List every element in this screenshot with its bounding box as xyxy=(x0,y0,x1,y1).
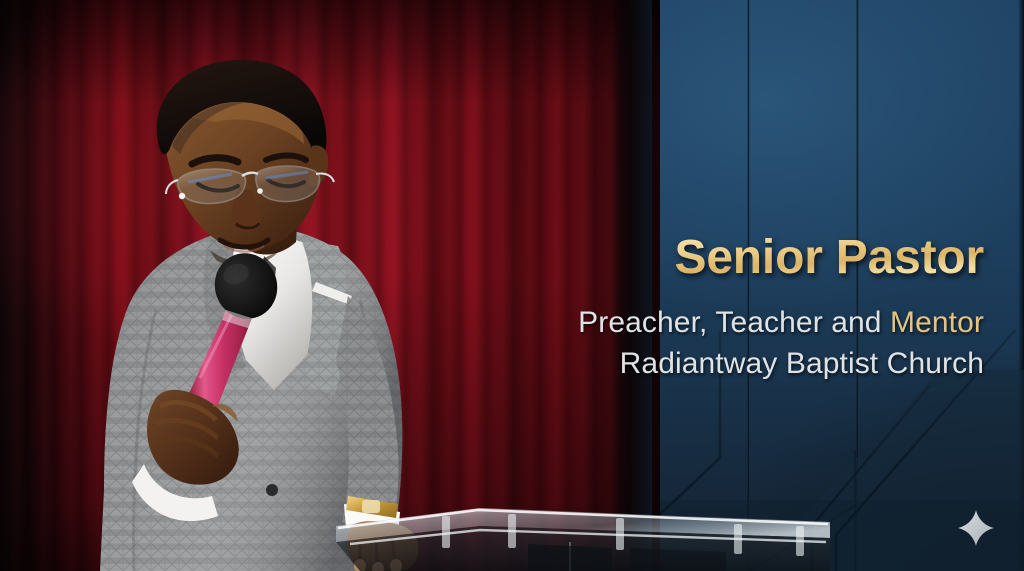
title-slide: Rev. Patrick Seshie Senior Pastor Preach… xyxy=(0,0,1024,571)
sparkle-icon xyxy=(957,509,995,547)
curtain-wall-gap xyxy=(612,0,652,571)
acrylic-pulpit xyxy=(330,492,830,571)
